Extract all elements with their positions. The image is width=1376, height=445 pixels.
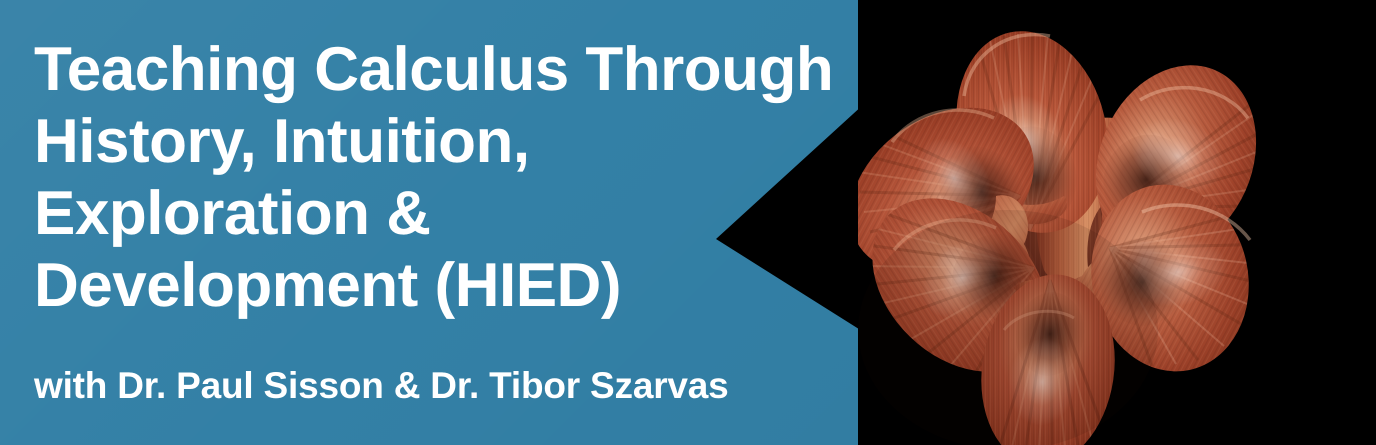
page-title: Teaching Calculus Through History, Intui… [34, 34, 854, 322]
title-line-3: Exploration & [34, 178, 854, 250]
title-line-2: History, Intuition, [34, 106, 854, 178]
title-line-4: Development (HIED) [34, 250, 854, 322]
webinar-banner: Teaching Calculus Through History, Intui… [0, 0, 1376, 445]
title-line-1: Teaching Calculus Through [34, 34, 854, 106]
presenters-subtitle: with Dr. Paul Sisson & Dr. Tibor Szarvas [34, 364, 729, 408]
wooden-sculpture-icon [858, 0, 1278, 445]
sculpture-artwork [858, 0, 1278, 445]
